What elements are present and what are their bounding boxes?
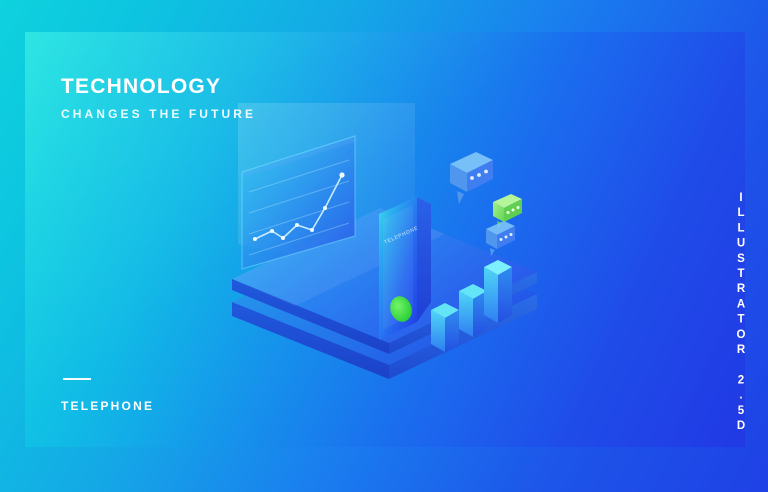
footer-label: TELEPHONE <box>61 400 154 412</box>
page-title: TECHNOLOGY <box>61 76 221 97</box>
bar-1 <box>431 303 459 352</box>
poster-canvas: TELEPHONE <box>0 0 768 492</box>
bar-2 <box>459 284 487 337</box>
bar-3 <box>484 260 512 323</box>
divider-rule <box>63 378 91 380</box>
bubble-large-blue <box>450 152 493 204</box>
poster-card: TELEPHONE <box>25 32 745 447</box>
bubble-small-blue <box>486 221 515 256</box>
page-subtitle: CHANGES THE FUTURE <box>61 108 256 120</box>
side-label: ILLUSTRATOR 2.5D WORKS <box>735 192 745 447</box>
speech-bubbles-group <box>450 152 522 256</box>
